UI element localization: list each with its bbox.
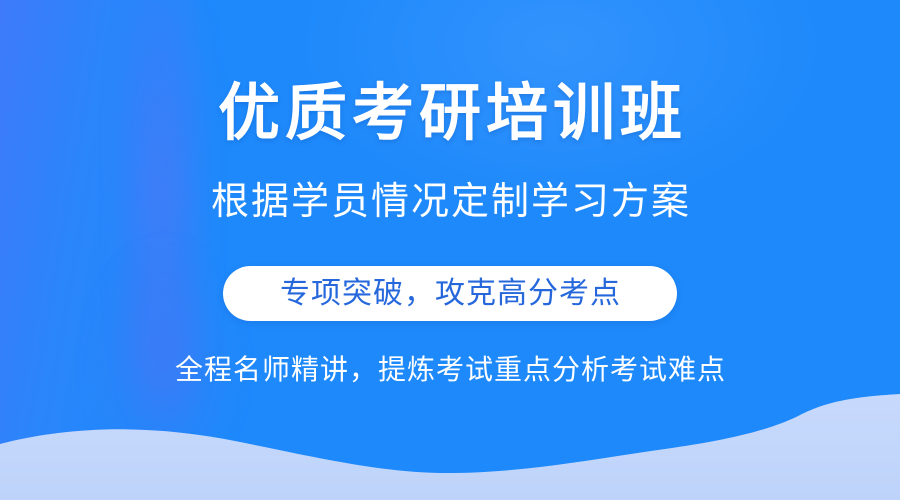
banner-content: 优质考研培训班 根据学员情况定制学习方案 专项突破，攻克高分考点 全程名师精讲，… — [0, 0, 900, 500]
highlight-pill[interactable]: 专项突破，攻克高分考点 — [223, 266, 677, 321]
highlight-pill-label: 专项突破，攻克高分考点 — [279, 277, 621, 311]
banner-subtitle: 根据学员情况定制学习方案 — [0, 177, 900, 225]
promo-banner: 优质考研培训班 根据学员情况定制学习方案 专项突破，攻克高分考点 全程名师精讲，… — [0, 0, 900, 500]
banner-tagline: 全程名师精讲，提炼考试重点分析考试难点 — [0, 352, 900, 388]
page-title: 优质考研培训班 — [0, 76, 900, 150]
